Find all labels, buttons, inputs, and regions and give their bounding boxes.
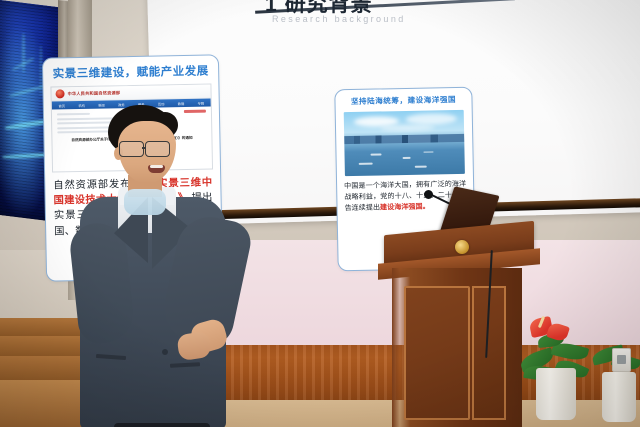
right-body-highlight: 建设海洋强国。	[380, 203, 430, 212]
eyeglasses-lens-right	[145, 141, 170, 157]
mouth	[148, 165, 165, 173]
national-emblem-icon	[55, 89, 64, 98]
lectern-front-panel	[404, 286, 470, 420]
left-card-heading: 实景三维建设，赋能产业发展	[43, 55, 218, 85]
slide-subtitle: Research background	[272, 14, 406, 24]
face-mask-pulled-down	[124, 189, 166, 215]
city-skyline	[344, 134, 464, 144]
gov-nav-item: 首页	[58, 103, 65, 108]
ocean-city-photo	[344, 110, 465, 176]
eyeglasses-lens-left	[119, 141, 144, 157]
microphone-head-icon	[424, 190, 433, 199]
presenter	[74, 105, 242, 427]
gov-site-name: 中华人民共和国自然资源部	[68, 90, 121, 97]
jacket-button	[162, 349, 168, 355]
flower-pot	[536, 368, 576, 420]
wall-switch-plate	[612, 348, 631, 372]
right-card-heading: 坚持陆海统筹，建设海洋强国	[335, 88, 471, 111]
conference-photo-scene: 1研究背景 Research background 实景三维建设，赋能产业发展 …	[0, 0, 640, 427]
trousers	[114, 423, 210, 427]
eyeglasses-bridge	[142, 147, 146, 149]
flower-pot-secondary	[602, 372, 636, 422]
